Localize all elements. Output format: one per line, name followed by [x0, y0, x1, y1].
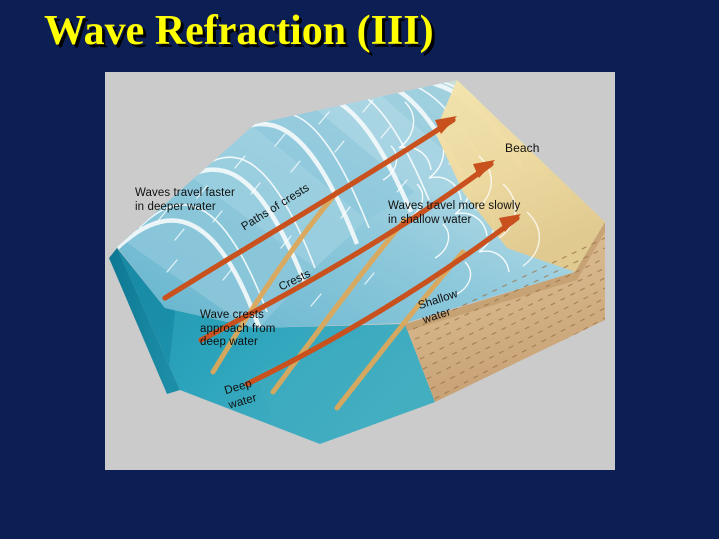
wave-refraction-diagram	[105, 72, 615, 470]
label-waves-travel-faster: Waves travel faster in deeper water	[135, 187, 235, 214]
page-title: Wave Refraction (III)	[44, 6, 434, 56]
figure-panel: Waves travel faster in deeper water Wave…	[105, 72, 615, 470]
label-beach: Beach	[505, 142, 540, 156]
label-wave-crests-approach: Wave crests approach from deep water	[200, 309, 275, 350]
label-waves-travel-slower: Waves travel more slowly in shallow wate…	[388, 200, 520, 227]
slide-canvas: Wave Refraction (III)	[0, 0, 719, 539]
